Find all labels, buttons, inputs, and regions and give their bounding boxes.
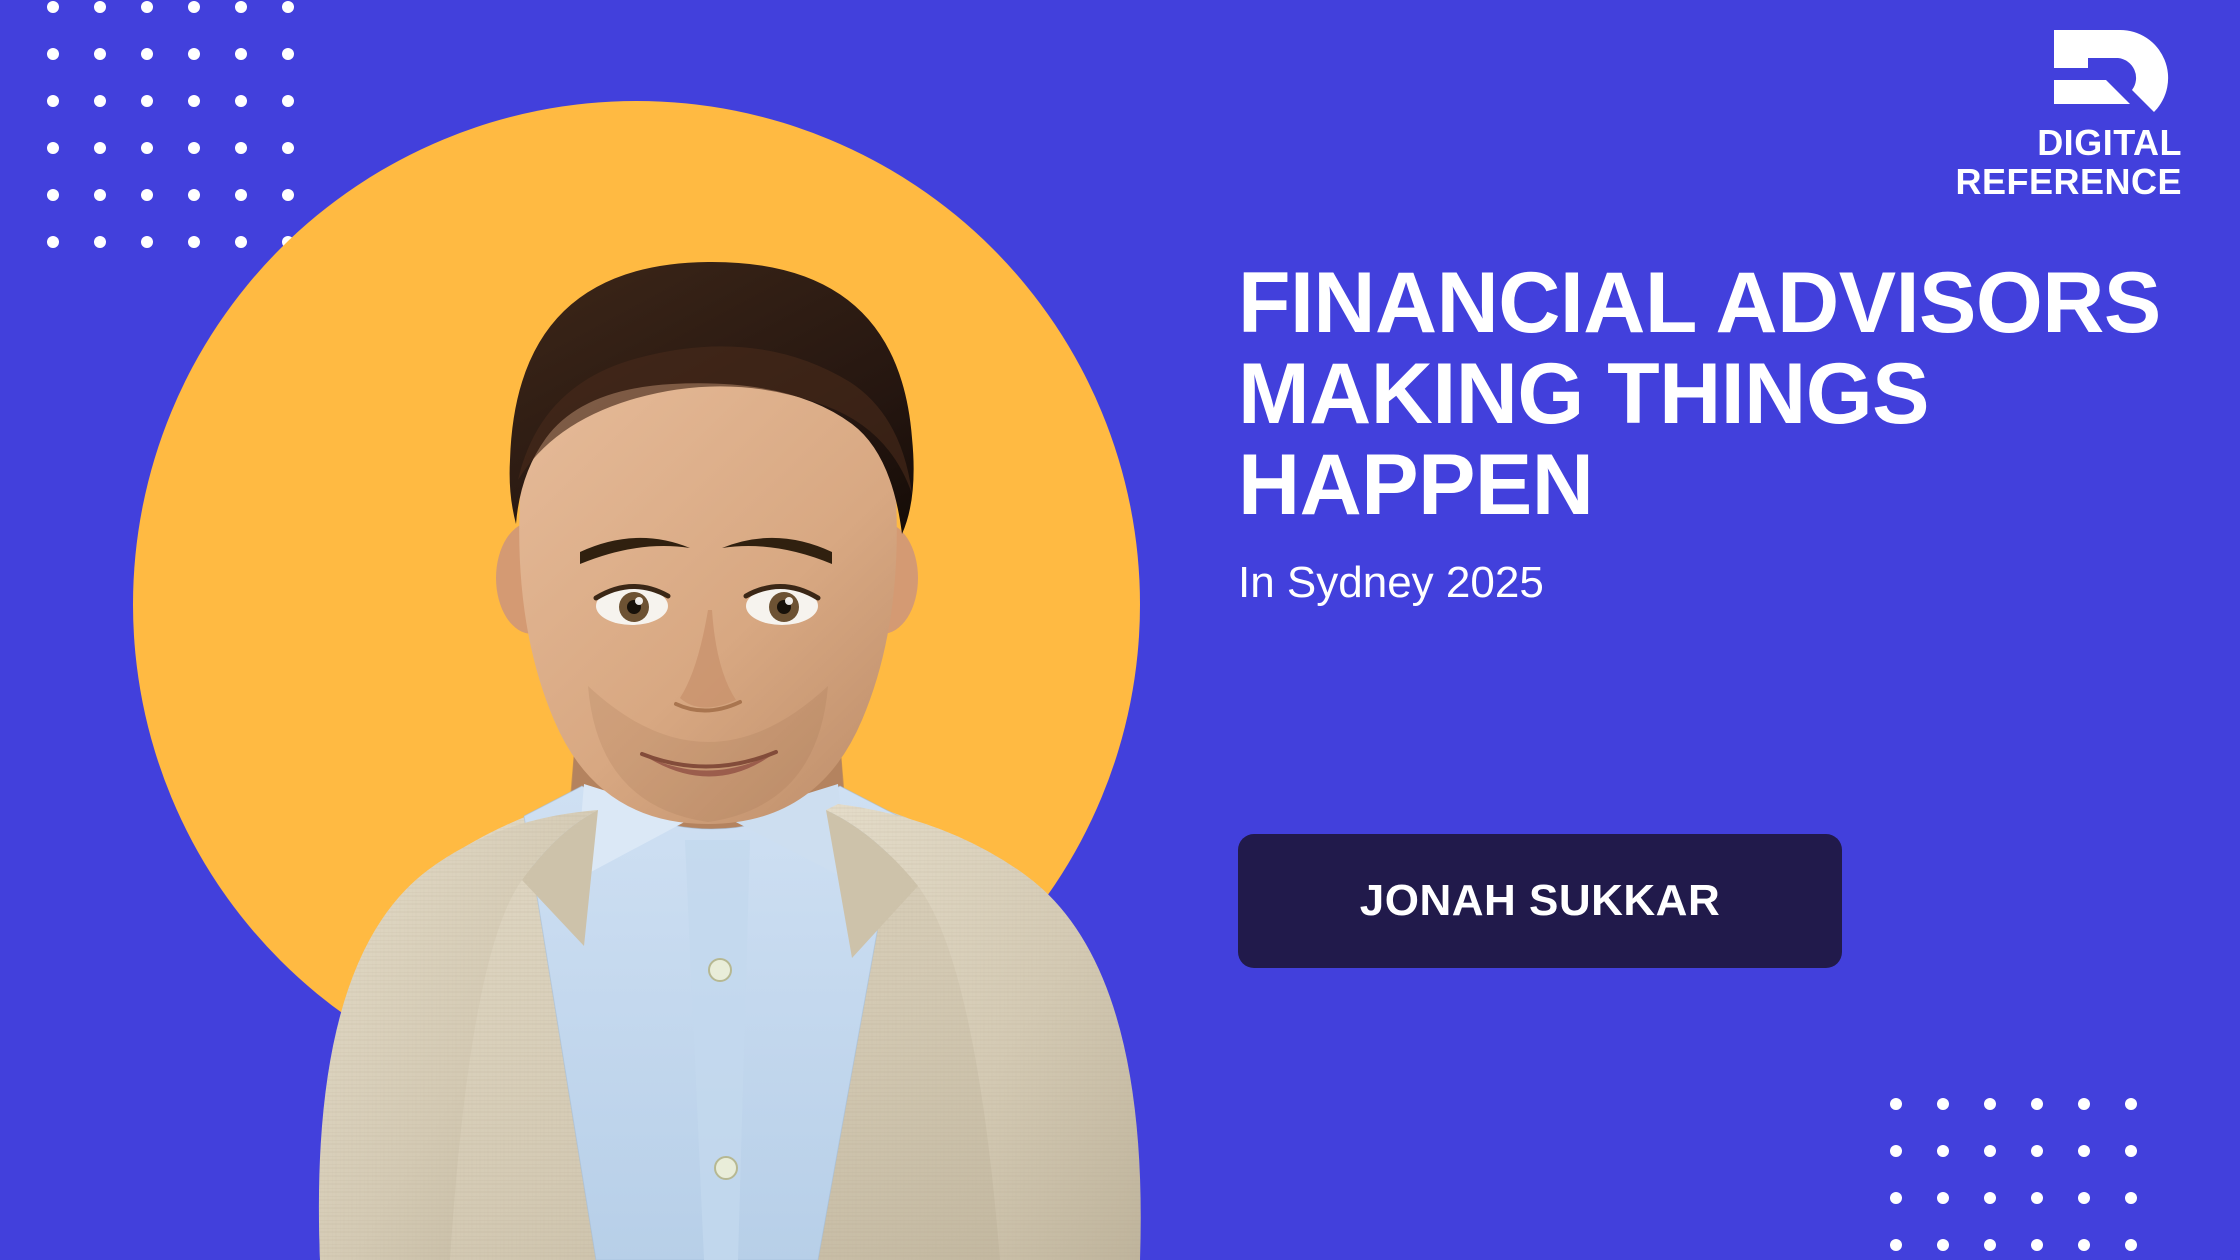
decorative-dot [1937,1145,1949,1157]
promo-banner: DIGITAL REFERENCE FINANCIAL ADVISORS MAK… [0,0,2240,1260]
decorative-dot [2078,1098,2090,1110]
decorative-dot [2125,1145,2137,1157]
brand-name-line-1: DIGITAL [1932,124,2182,163]
decorative-dot [235,1,247,13]
decorative-dot [141,48,153,60]
decorative-dot [2031,1192,2043,1204]
decorative-dot [1937,1192,1949,1204]
decorative-dot [2125,1239,2137,1251]
decorative-dot [94,95,106,107]
decorative-dot [2031,1145,2043,1157]
decorative-dot [47,48,59,60]
decorative-dot [1984,1098,1996,1110]
decorative-dot [47,142,59,154]
decorative-dot [188,95,200,107]
dot-grid-bottom-right [1890,1098,2137,1251]
decorative-dot [188,142,200,154]
decorative-dot [1937,1098,1949,1110]
decorative-dot [47,1,59,13]
decorative-dot [282,142,294,154]
decorative-dot [94,142,106,154]
brand-logo: DIGITAL REFERENCE [1932,28,2182,202]
decorative-dot [235,142,247,154]
decorative-dot [47,189,59,201]
decorative-dot [1890,1145,1902,1157]
decorative-dot [282,48,294,60]
page-title: FINANCIAL ADVISORS MAKING THINGS HAPPEN [1238,258,2168,531]
decorative-dot [1984,1192,1996,1204]
brand-name-line-2: REFERENCE [1932,163,2182,202]
decorative-dot [94,189,106,201]
headline-block: FINANCIAL ADVISORS MAKING THINGS HAPPEN … [1238,258,2168,610]
decorative-dot [188,48,200,60]
decorative-dot [282,95,294,107]
decorative-dot [282,1,294,13]
decorative-dot [141,142,153,154]
decorative-dot [2125,1192,2137,1204]
decorative-dot [47,95,59,107]
decorative-dot [94,1,106,13]
speaker-photo [180,180,1240,1260]
decorative-dot [2078,1239,2090,1251]
decorative-dot [1890,1192,1902,1204]
decorative-dot [2078,1145,2090,1157]
decorative-dot [141,236,153,248]
decorative-dot [1890,1098,1902,1110]
decorative-dot [2031,1098,2043,1110]
decorative-dot [94,48,106,60]
decorative-dot [2031,1239,2043,1251]
decorative-dot [235,48,247,60]
decorative-dot [1890,1239,1902,1251]
decorative-dot [141,1,153,13]
decorative-dot [141,95,153,107]
decorative-dot [2125,1098,2137,1110]
decorative-dot [1984,1145,1996,1157]
decorative-dot [47,236,59,248]
decorative-dot [141,189,153,201]
decorative-dot [1984,1239,1996,1251]
decorative-dot [235,95,247,107]
decorative-dot [1937,1239,1949,1251]
digital-reference-r-monogram-icon [2048,28,2176,124]
speaker-name-label: JONAH SUKKAR [1360,876,1720,926]
decorative-dot [94,236,106,248]
event-location-year: In Sydney 2025 [1238,557,2168,610]
speaker-name-badge[interactable]: JONAH SUKKAR [1238,834,1842,968]
decorative-dot [2078,1192,2090,1204]
decorative-dot [188,1,200,13]
